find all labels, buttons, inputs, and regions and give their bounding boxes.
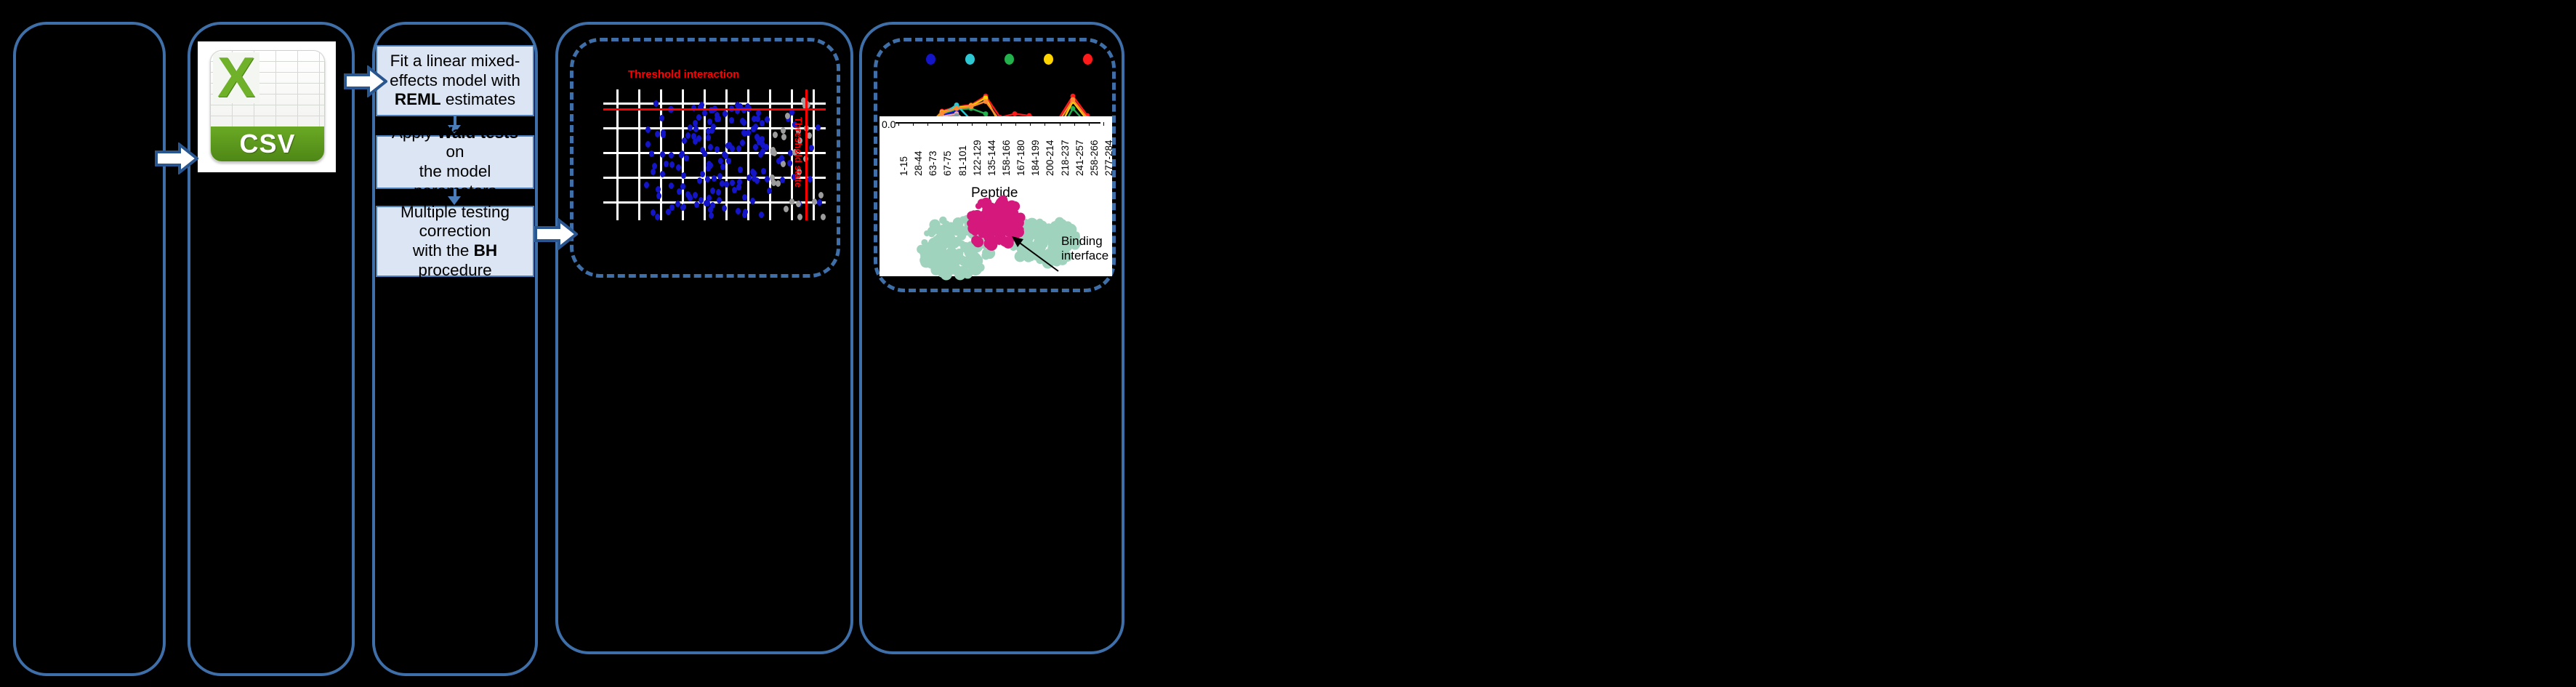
chart-data-point: [983, 99, 989, 104]
axis-tick-mark: [1103, 122, 1104, 126]
bh-post: procedure: [418, 261, 491, 279]
peptide-tick-label: 277-284: [1103, 140, 1114, 176]
scatter-point: [659, 115, 664, 121]
flow-arrow-2-icon: [344, 65, 387, 97]
legend-dot: [1083, 54, 1092, 65]
scatter-point: [702, 150, 707, 157]
threshold-interaction-title: Threshold interaction: [628, 68, 739, 81]
scatter-point: [716, 116, 721, 122]
scatter-point: [696, 114, 701, 121]
reml-line-3: estimates: [441, 90, 516, 108]
peptide-tick-label: 200-214: [1045, 140, 1055, 176]
scatter-point: [759, 212, 764, 218]
scatter-point: [681, 172, 686, 179]
reml-line-1: Fit a linear mixed-: [390, 52, 520, 70]
scatter-point: [715, 146, 720, 153]
scatter-point: [688, 124, 693, 131]
scatter-point: [789, 198, 794, 205]
bh-line-2: correction: [419, 222, 491, 240]
peptide-tick-label: 67-75: [942, 150, 953, 176]
peptide-tick-label: 184-199: [1030, 140, 1041, 176]
scatter-point: [666, 209, 671, 215]
peptide-tick-label: 241-257: [1074, 140, 1085, 176]
legend-dot: [1005, 54, 1014, 65]
scatter-point: [653, 100, 659, 107]
scatter-point: [669, 152, 674, 158]
reml-line-2: effects model with: [390, 71, 520, 89]
scatter-point: [773, 132, 778, 138]
scatter-point: [693, 126, 699, 132]
threshold-scatter-chart: Threshold interaction Threshold state: [586, 69, 826, 236]
scatter-point: [664, 161, 669, 167]
flow-arrow-1-icon: [155, 142, 198, 174]
scatter-point: [761, 168, 766, 174]
scatter-point: [722, 151, 727, 158]
scatter-point: [726, 158, 731, 164]
csv-file-icon: X CSV: [198, 41, 336, 172]
scatter-point: [787, 160, 792, 166]
scatter-point: [736, 208, 741, 214]
peptide-tick-label: 1-15: [898, 156, 909, 176]
chart-data-point: [1013, 111, 1018, 116]
peptide-tick-label: 122-129: [972, 140, 983, 176]
grid-line-horizontal: [603, 103, 826, 105]
scatter-point: [821, 214, 826, 220]
scatter-point: [708, 144, 713, 150]
scatter-point: [704, 200, 709, 206]
scatter-point: [693, 192, 698, 198]
x-axis-line: [895, 122, 1100, 124]
scatter-point: [660, 151, 665, 158]
peptide-tick-label: 167-180: [1015, 140, 1026, 176]
peptide-tick-label: 63-73: [927, 150, 938, 176]
scatter-point: [696, 135, 701, 142]
scatter-point: [709, 212, 714, 219]
scatter-point: [752, 170, 757, 177]
scatter-point: [717, 197, 722, 204]
legend-dot: [965, 54, 975, 65]
peptide-tick-label: 28-44: [913, 150, 924, 176]
chart-data-point: [954, 106, 959, 111]
scatter-point: [760, 148, 765, 155]
scatter-point: [781, 134, 786, 140]
scatter-point: [754, 177, 760, 184]
peptide-tick-label: 81-101: [957, 145, 968, 176]
peptide-tick-label: 158-166: [1001, 140, 1012, 176]
threshold-line-horizontal: [603, 108, 826, 111]
scatter-point: [740, 140, 745, 146]
binding-interface-annotation: Binding interface: [1061, 234, 1119, 262]
scatter-point: [738, 166, 743, 173]
scatter-point: [660, 171, 665, 177]
scatter-point: [716, 189, 721, 196]
peptide-tick-label: 135-144: [986, 140, 997, 176]
scatter-point: [706, 134, 711, 141]
scatter-point: [741, 119, 746, 126]
scatter-point: [818, 192, 824, 198]
y-axis-tick-label: 0.0: [882, 118, 895, 130]
scatter-point: [751, 126, 756, 132]
scatter-point: [656, 186, 661, 193]
scatter-point: [644, 182, 649, 188]
scatter-point: [781, 127, 786, 134]
chart-data-point: [969, 104, 974, 109]
csv-badge: X CSV: [210, 50, 325, 162]
scatter-point: [685, 132, 691, 139]
scatter-point: [729, 117, 734, 124]
scatter-point: [767, 188, 772, 194]
scatter-point: [760, 120, 765, 126]
scatter-point: [743, 209, 748, 215]
scatter-point: [784, 206, 789, 212]
reml-emphasis: REML: [395, 90, 441, 108]
scatter-point: [645, 126, 651, 133]
scatter-point: [676, 164, 681, 171]
scatter-point: [669, 161, 675, 168]
csv-label-strip: CSV: [211, 126, 324, 161]
scatter-point: [730, 180, 735, 186]
wald-emphasis: Wald tests: [437, 124, 518, 142]
scatter-point: [722, 205, 727, 212]
scatter-point: [699, 102, 704, 108]
chart-data-point: [1071, 106, 1076, 111]
flow-step-wald[interactable]: Apply Wald tests on the model parameters: [376, 135, 534, 189]
scatter-point: [816, 124, 821, 131]
scatter-point: [736, 145, 741, 152]
scatter-point: [652, 163, 657, 169]
scatter-point: [645, 141, 651, 148]
scatter-point: [702, 110, 707, 116]
scatter-point: [684, 155, 689, 161]
binding-line-1: Binding: [1061, 234, 1103, 248]
scatter-point: [677, 188, 682, 195]
scatter-point: [710, 188, 715, 194]
threshold-line-vertical: [805, 89, 808, 220]
scatter-point: [770, 149, 776, 156]
chart-data-point: [983, 111, 989, 116]
scatter-point: [736, 184, 741, 190]
scatter-point: [780, 177, 785, 183]
peptide-tick-label: 258-266: [1089, 140, 1100, 176]
wald-pre: Apply: [392, 124, 438, 142]
chart-data-point: [1071, 97, 1076, 103]
scatter-point: [669, 182, 674, 189]
scatter-point: [693, 120, 698, 126]
scatter-point: [712, 175, 717, 182]
flow-arrow-3-icon: [534, 218, 578, 250]
flow-step-reml[interactable]: Fit a linear mixed- effects model with R…: [376, 45, 534, 116]
peptide-tick-label: 218-237: [1060, 140, 1071, 176]
scatter-point: [699, 197, 704, 204]
legend-dot: [926, 54, 935, 65]
threshold-state-label: Threshold state: [793, 117, 804, 188]
scatter-point: [707, 161, 712, 167]
excel-x-glyph: X: [213, 52, 259, 103]
csv-format-label: CSV: [239, 129, 295, 159]
scatter-point: [649, 150, 654, 157]
scatter-point: [697, 177, 702, 184]
scatter-point: [651, 209, 656, 216]
bh-line-1: Multiple testing: [401, 203, 510, 221]
scatter-point: [723, 111, 728, 117]
bh-emphasis: BH: [474, 241, 498, 260]
scatter-point: [730, 145, 735, 152]
scatter-point: [681, 204, 686, 210]
legend-dot: [1044, 54, 1053, 65]
scatter-point: [753, 144, 758, 150]
scatter-point: [705, 176, 710, 182]
scatter-point: [709, 127, 715, 134]
chart-data-point: [940, 111, 945, 116]
scatter-point: [817, 199, 822, 206]
flow-step-bh[interactable]: Multiple testing correction with the BH …: [376, 206, 534, 277]
scatter-point: [808, 176, 813, 182]
bh-pre: with the: [413, 241, 474, 260]
scatter-point: [694, 201, 699, 208]
wald-post: on: [446, 142, 464, 161]
panel-input: [13, 22, 166, 676]
binding-line-2: interface: [1061, 249, 1108, 262]
scatter-point: [797, 214, 802, 220]
